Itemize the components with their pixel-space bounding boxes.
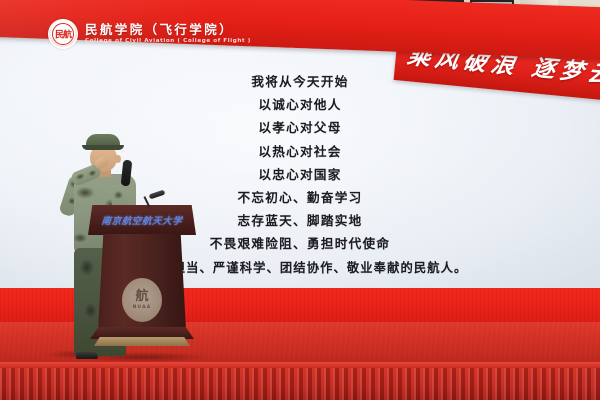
podium-body: 航 NUAA xyxy=(98,234,186,330)
oath-line: 以孝心对父母 xyxy=(258,122,341,135)
oath-line: 不忘初心、勤奋学习 xyxy=(237,192,362,205)
podium-university-emblem-icon: 航 NUAA xyxy=(122,278,162,322)
oath-line: 以诚心对他人 xyxy=(258,99,341,112)
oath-line: 我将从今天开始 xyxy=(251,76,348,89)
podium: 南京航空航天大学 航 NUAA xyxy=(88,205,196,355)
banner-title-en: College of Civil Aviation ( College of F… xyxy=(85,39,251,45)
college-emblem-icon: 民航 xyxy=(48,19,78,49)
podium-top: 南京航空航天大学 xyxy=(88,205,196,235)
banner-title-cn: 民航学院（飞行学院） xyxy=(85,24,251,37)
oath-line: 以忠心对国家 xyxy=(258,169,341,182)
podium-plaque-text: 南京航空航天大学 xyxy=(95,211,189,229)
banner-title-group: 民航学院（飞行学院） College of Civil Aviation ( C… xyxy=(85,24,251,45)
emblem-mark: 民航 xyxy=(55,28,71,41)
college-name-banner-content: 民航 民航学院（飞行学院） College of Civil Aviation … xyxy=(30,16,600,52)
oath-line: 以热心对社会 xyxy=(258,146,341,159)
ceremony-photo: 我将从今天开始 以诚心对他人 以孝心对父母 以热心对社会 以忠心对国家 不忘初心… xyxy=(0,0,600,400)
podium-foot xyxy=(94,337,190,346)
stage-skirt xyxy=(0,368,600,400)
speaker-ear xyxy=(115,155,121,163)
oath-line: 志存蓝天、脚踏实地 xyxy=(237,215,362,228)
speaker-cap-brim xyxy=(82,145,124,150)
podium-emblem-glyph: 航 xyxy=(135,290,148,303)
podium-emblem-abbr: NUAA xyxy=(133,305,152,310)
stage-skirt-pleats xyxy=(0,368,600,400)
oath-line: 不畏艰难险阻、勇担时代使命 xyxy=(210,238,391,251)
